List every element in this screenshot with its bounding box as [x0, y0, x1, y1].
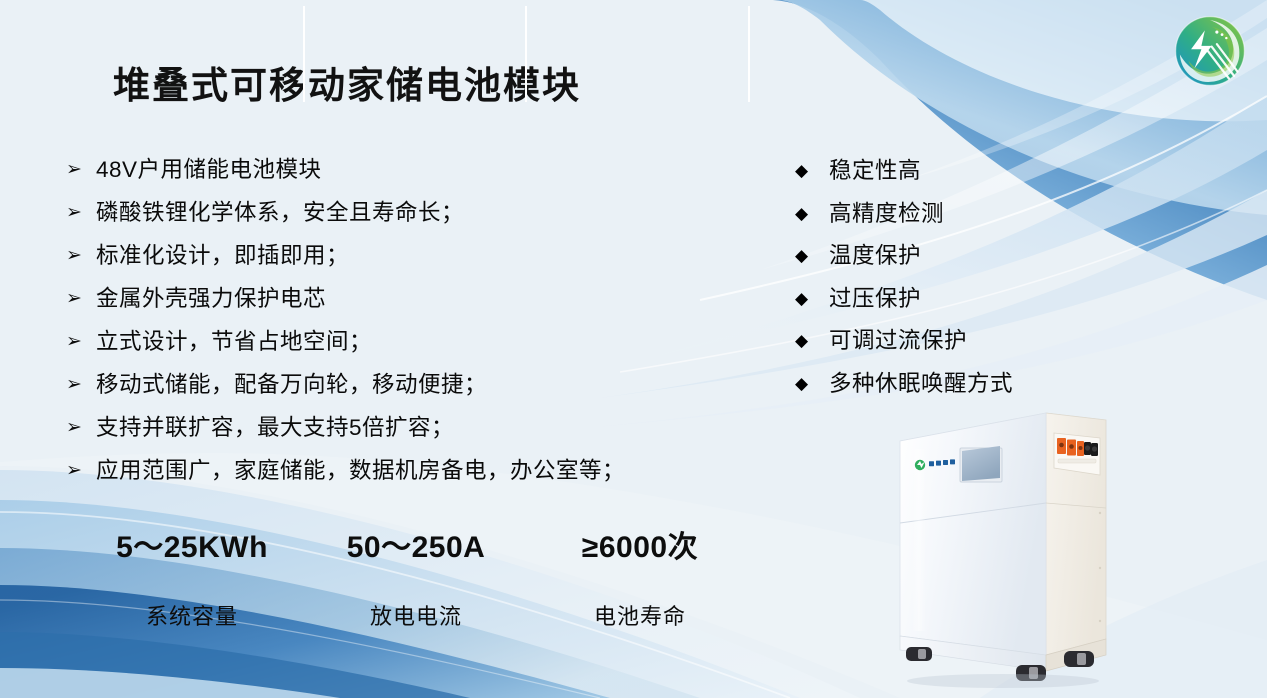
spec-stats-row: 5〜25KWh 系统容量 50〜250A 放电电流 ≥6000次 电池寿命 [80, 512, 752, 617]
stat-system-capacity: 5〜25KWh 系统容量 [80, 512, 304, 617]
arrow-bullet-icon: ➢ [66, 191, 96, 234]
stat-label: 放电电流 [304, 599, 528, 631]
list-item-label: 过压保护 [829, 278, 921, 321]
stat-value: 50〜250A [304, 522, 528, 566]
left-feature-list: ➢ 48V户用储能电池模块 ➢ 磷酸铁锂化学体系，安全且寿命长； ➢ 标准化设计… [66, 148, 756, 492]
slide-root: 堆叠式可移动家储电池模块 ➢ 48V户用储能电池模块 ➢ 磷酸铁锂化学体系，安全… [0, 0, 1267, 698]
list-item-label: 稳定性高 [829, 150, 921, 193]
list-item-label: 标准化设计，即插即用； [96, 234, 349, 277]
stat-value: 5〜25KWh [80, 522, 304, 566]
list-item-label: 可调过流保护 [829, 320, 967, 363]
list-item: ◆ 过压保护 [795, 278, 1125, 321]
stat-label: 电池寿命 [528, 599, 752, 631]
stats-divider [303, 6, 305, 102]
list-item-label: 温度保护 [829, 235, 921, 278]
list-item-label: 应用范围广，家庭储能，数据机房备电，办公室等； [96, 449, 625, 492]
list-item-label: 磷酸铁锂化学体系，安全且寿命长； [96, 191, 464, 234]
page-title: 堆叠式可移动家储电池模块 [113, 55, 581, 109]
diamond-bullet-icon: ◆ [795, 235, 829, 278]
diamond-bullet-icon: ◆ [795, 193, 829, 236]
list-item: ◆ 高精度检测 [795, 193, 1125, 236]
list-item-label: 高精度检测 [829, 193, 944, 236]
list-item-label: 立式设计，节省占地空间； [96, 320, 372, 363]
arrow-bullet-icon: ➢ [66, 277, 96, 320]
diamond-bullet-icon: ◆ [795, 150, 829, 193]
arrow-bullet-icon: ➢ [66, 320, 96, 363]
arrow-bullet-icon: ➢ [66, 363, 96, 406]
list-item-label: 48V户用储能电池模块 [96, 148, 322, 191]
diamond-bullet-icon: ◆ [795, 320, 829, 363]
list-item-label: 支持并联扩容，最大支持5倍扩容； [96, 406, 454, 449]
arrow-bullet-icon: ➢ [66, 234, 96, 277]
stat-value: ≥6000次 [528, 522, 752, 566]
product-image-battery-cabinet [878, 393, 1128, 691]
list-item-label: 移动式储能，配备万向轮，移动便捷； [96, 363, 487, 406]
list-item: ◆ 温度保护 [795, 235, 1125, 278]
list-item: ➢ 金属外壳强力保护电芯 [66, 277, 756, 320]
list-item: ➢ 磷酸铁锂化学体系，安全且寿命长； [66, 191, 756, 234]
list-item: ➢ 标准化设计，即插即用； [66, 234, 756, 277]
diamond-bullet-icon: ◆ [795, 363, 829, 406]
stat-label: 系统容量 [80, 599, 304, 631]
list-item: ➢ 48V户用储能电池模块 [66, 148, 756, 191]
list-item: ◆ 可调过流保护 [795, 320, 1125, 363]
company-logo [1167, 8, 1253, 94]
list-item: ➢ 立式设计，节省占地空间； [66, 320, 756, 363]
list-item-label: 金属外壳强力保护电芯 [96, 277, 326, 320]
stats-divider [748, 6, 750, 102]
stats-divider [525, 6, 527, 102]
list-item: ➢ 移动式储能，配备万向轮，移动便捷； [66, 363, 756, 406]
arrow-bullet-icon: ➢ [66, 449, 96, 492]
arrow-bullet-icon: ➢ [66, 406, 96, 449]
stat-battery-life: ≥6000次 电池寿命 [528, 512, 752, 617]
right-feature-list: ◆ 稳定性高 ◆ 高精度检测 ◆ 温度保护 ◆ 过压保护 ◆ 可调过流保护 ◆ … [795, 150, 1125, 405]
diamond-bullet-icon: ◆ [795, 278, 829, 321]
list-item: ➢ 应用范围广，家庭储能，数据机房备电，办公室等； [66, 449, 756, 492]
list-item: ➢ 支持并联扩容，最大支持5倍扩容； [66, 406, 756, 449]
stat-discharge-current: 50〜250A 放电电流 [304, 512, 528, 617]
list-item: ◆ 稳定性高 [795, 150, 1125, 193]
arrow-bullet-icon: ➢ [66, 148, 96, 191]
